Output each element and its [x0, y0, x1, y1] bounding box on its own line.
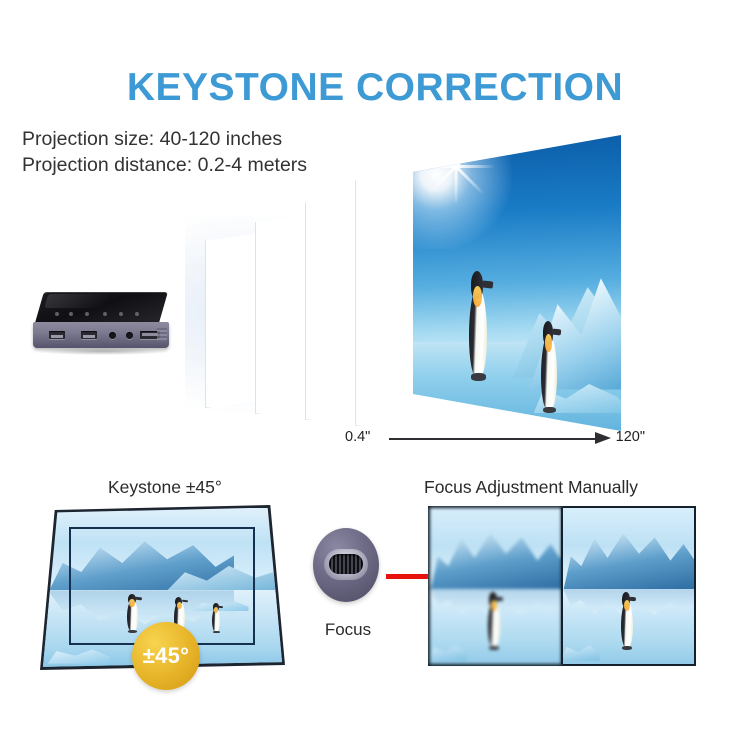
projector-shadow: [37, 348, 169, 355]
focus-comparison: [428, 506, 696, 666]
spec-projection-size: Projection size: 40-120 inches: [22, 127, 307, 153]
out-of-focus-pane: [430, 508, 561, 664]
penguin-figure: [465, 271, 492, 378]
in-focus-pane: [561, 508, 694, 664]
usb-port-icon: [81, 331, 97, 339]
spec-list: Projection size: 40-120 inches Projectio…: [22, 127, 307, 178]
focus-knob[interactable]: [313, 528, 379, 602]
penguin-figure: [485, 592, 503, 648]
audio-jack-icon: [109, 332, 116, 339]
keystone-angle-badge: ±45°: [132, 622, 200, 690]
spec-projection-distance: Projection distance: 0.2-4 meters: [22, 153, 307, 179]
keystone-caption: Keystone ±45°: [108, 477, 222, 498]
scale-arrow-icon: [595, 432, 611, 444]
focus-caption: Focus Adjustment Manually: [424, 477, 638, 498]
focus-knob-label: Focus: [302, 620, 394, 640]
scale-line: [389, 438, 601, 440]
usb-port-icon: [49, 331, 65, 339]
infographic-root: KEYSTONE CORRECTION Projection size: 40-…: [0, 0, 750, 750]
sun-flare-icon: [413, 135, 527, 249]
projector-touch-keys: [55, 310, 141, 318]
projected-screen-image: [413, 135, 621, 431]
throw-distance-scale: 0.4" 120": [345, 429, 645, 449]
penguin-figure: [618, 592, 636, 648]
scale-min-label: 0.4": [345, 429, 370, 445]
projector-device: [33, 292, 169, 354]
projector-top-shell: [34, 292, 168, 326]
focus-knob-well: [324, 549, 369, 580]
dc-jack-icon: [126, 332, 133, 339]
scale-max-label: 120": [616, 429, 645, 445]
penguin-figure: [538, 321, 561, 410]
vent-icon: [157, 328, 167, 342]
focus-slider-icon[interactable]: [329, 554, 363, 574]
projector-front-panel: [33, 322, 169, 348]
page-title: KEYSTONE CORRECTION: [0, 68, 750, 107]
